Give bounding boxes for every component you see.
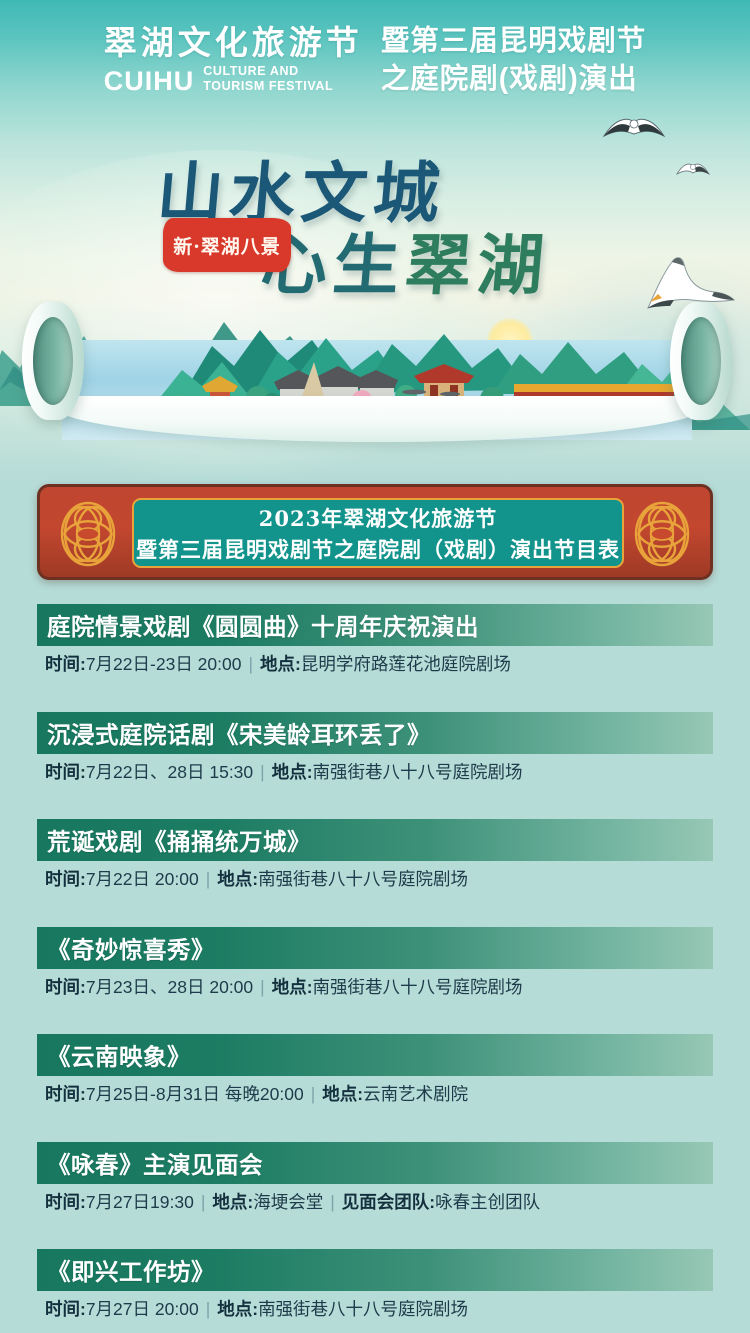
program-item[interactable]: 《云南映象》时间:7月25日-8月31日 每晚20:00|地点:云南艺术剧院: [0, 1034, 750, 1142]
program-detail: 时间:7月22日、28日 15:30|地点:南强街巷八十八号庭院剧场: [45, 760, 523, 785]
time-value: 7月22日、28日 15:30: [86, 762, 253, 782]
program-banner: 2023年翠湖文化旅游节 暨第三届昆明戏剧节之庭院剧（戏剧）演出节目表: [37, 484, 713, 580]
venue-label: 地点:: [272, 977, 313, 997]
venue-value: 南强街巷八十八号庭院剧场: [313, 977, 523, 997]
time-value: 7月22日-23日 20:00: [86, 654, 242, 674]
ornament-left-icon: [52, 499, 124, 569]
calligraphy-line-2: 心生翠湖: [258, 212, 554, 308]
venue-label: 地点:: [260, 654, 301, 674]
program-item[interactable]: 庭院情景戏剧《圆圆曲》十周年庆祝演出时间:7月22日-23日 20:00|地点:…: [0, 604, 750, 712]
program-title: 《奇妙惊喜秀》: [37, 931, 215, 965]
seal-text: 新·翠湖八景: [173, 232, 281, 259]
time-label: 时间:: [45, 1192, 86, 1212]
detail-separator: |: [194, 1192, 213, 1212]
program-title-bar: 荒诞戏剧《捅捅统万城》: [37, 819, 713, 861]
venue-value: 海埂会堂: [253, 1192, 323, 1212]
program-detail: 时间:7月23日、28日 20:00|地点:南强街巷八十八号庭院剧场: [45, 975, 523, 1000]
program-title-bar: 沉浸式庭院话剧《宋美龄耳环丢了》: [37, 712, 713, 754]
ornament-right-icon: [626, 499, 698, 569]
program-title: 《云南映象》: [37, 1038, 191, 1072]
program-title-bar: 《云南映象》: [37, 1034, 713, 1076]
team-value: 咏春主创团队: [435, 1192, 540, 1212]
detail-separator: |: [199, 869, 218, 889]
venue-label: 地点:: [217, 1299, 258, 1319]
program-title: 《即兴工作坊》: [37, 1253, 215, 1287]
festival-logo-en-line2: TOURISM FESTIVAL: [203, 79, 333, 94]
poster-root: 山水文城 心生翠湖 新·翠湖八景: [0, 0, 750, 1333]
program-detail: 时间:7月22日 20:00|地点:南强街巷八十八号庭院剧场: [45, 867, 468, 892]
scroll-roll-right-hole: [681, 317, 721, 405]
time-value: 7月25日-8月31日 每晚20:00: [86, 1084, 304, 1104]
detail-separator: |: [304, 1084, 323, 1104]
time-label: 时间:: [45, 869, 86, 889]
program-banner-line1: 2023年翠湖文化旅游节: [259, 503, 497, 533]
header-subtitle-line1: 暨第三届昆明戏剧节: [381, 22, 647, 60]
scroll-roll-right: [670, 302, 732, 420]
venue-value: 南强街巷八十八号庭院剧场: [258, 1299, 468, 1319]
time-label: 时间:: [45, 762, 86, 782]
program-item[interactable]: 沉浸式庭院话剧《宋美龄耳环丢了》时间:7月22日、28日 15:30|地点:南强…: [0, 712, 750, 820]
scroll-roll-left: [22, 302, 84, 420]
program-list: 庭院情景戏剧《圆圆曲》十周年庆祝演出时间:7月22日-23日 20:00|地点:…: [0, 604, 750, 1324]
festival-logo: 翠湖文化旅游节 CUIHU CULTURE AND TOURISM FESTIV…: [104, 25, 363, 94]
program-title: 庭院情景戏剧《圆圆曲》十周年庆祝演出: [37, 608, 479, 642]
time-label: 时间:: [45, 977, 86, 997]
detail-separator: |: [253, 762, 272, 782]
venue-label: 地点:: [212, 1192, 253, 1212]
venue-value: 南强街巷八十八号庭院剧场: [258, 869, 468, 889]
program-banner-inner: 2023年翠湖文化旅游节 暨第三届昆明戏剧节之庭院剧（戏剧）演出节目表: [132, 498, 624, 568]
program-item[interactable]: 《即兴工作坊》时间:7月27日 20:00|地点:南强街巷八十八号庭院剧场: [0, 1249, 750, 1324]
time-value: 7月23日、28日 20:00: [86, 977, 253, 997]
program-title-bar: 《奇妙惊喜秀》: [37, 927, 713, 969]
program-title: 《咏春》主演见面会: [37, 1146, 263, 1180]
time-label: 时间:: [45, 1084, 86, 1104]
program-title-bar: 《即兴工作坊》: [37, 1249, 713, 1291]
program-detail: 时间:7月25日-8月31日 每晚20:00|地点:云南艺术剧院: [45, 1082, 468, 1107]
program-detail: 时间:7月27日 20:00|地点:南强街巷八十八号庭院剧场: [45, 1297, 468, 1322]
team-label: 见面会团队:: [342, 1192, 435, 1212]
venue-value: 昆明学府路莲花池庭院剧场: [301, 654, 511, 674]
festival-logo-en-sub: CULTURE AND TOURISM FESTIVAL: [203, 64, 333, 95]
time-label: 时间:: [45, 654, 86, 674]
calligraphy-line-2b: 翠湖: [402, 226, 553, 304]
program-title: 荒诞戏剧《捅捅统万城》: [37, 823, 311, 857]
program-detail: 时间:7月27日19:30|地点:海埂会堂|见面会团队:咏春主创团队: [45, 1190, 540, 1215]
program-title: 沉浸式庭院话剧《宋美龄耳环丢了》: [37, 716, 431, 750]
detail-separator: |: [253, 977, 272, 997]
venue-label: 地点:: [322, 1084, 363, 1104]
detail-separator: |: [241, 654, 260, 674]
program-detail: 时间:7月22日-23日 20:00|地点:昆明学府路莲花池庭院剧场: [45, 652, 511, 677]
venue-value: 云南艺术剧院: [363, 1084, 468, 1104]
program-title-bar: 庭院情景戏剧《圆圆曲》十周年庆祝演出: [37, 604, 713, 646]
scroll-painting-icon: [0, 300, 750, 465]
venue-value: 南强街巷八十八号庭院剧场: [313, 762, 523, 782]
time-label: 时间:: [45, 1299, 86, 1319]
program-item[interactable]: 荒诞戏剧《捅捅统万城》时间:7月22日 20:00|地点:南强街巷八十八号庭院剧…: [0, 819, 750, 927]
program-banner-line2: 暨第三届昆明戏剧节之庭院剧（戏剧）演出节目表: [136, 534, 620, 564]
detail-separator: |: [323, 1192, 342, 1212]
festival-logo-en: CUIHU CULTURE AND TOURISM FESTIVAL: [104, 64, 363, 95]
festival-logo-en-line1: CULTURE AND: [203, 64, 333, 79]
calligraphy-title: 山水文城 心生翠湖: [0, 126, 750, 306]
detail-separator: |: [199, 1299, 218, 1319]
festival-logo-cn: 翠湖文化旅游节: [104, 25, 363, 62]
program-item[interactable]: 《奇妙惊喜秀》时间:7月23日、28日 20:00|地点:南强街巷八十八号庭院剧…: [0, 927, 750, 1035]
seal-stamp: 新·翠湖八景: [163, 218, 291, 272]
time-value: 7月27日19:30: [86, 1192, 194, 1212]
header-subtitle: 暨第三届昆明戏剧节 之庭院剧(戏剧)演出: [381, 22, 647, 98]
program-item[interactable]: 《咏春》主演见面会时间:7月27日19:30|地点:海埂会堂|见面会团队:咏春主…: [0, 1142, 750, 1250]
time-value: 7月22日 20:00: [86, 869, 199, 889]
venue-label: 地点:: [217, 869, 258, 889]
header-band: 翠湖文化旅游节 CUIHU CULTURE AND TOURISM FESTIV…: [0, 0, 750, 120]
scroll-roll-left-hole: [33, 317, 73, 405]
program-title-bar: 《咏春》主演见面会: [37, 1142, 713, 1184]
venue-label: 地点:: [272, 762, 313, 782]
header-subtitle-line2: 之庭院剧(戏剧)演出: [381, 60, 647, 98]
festival-logo-en-main: CUIHU: [104, 68, 195, 95]
time-value: 7月27日 20:00: [86, 1299, 199, 1319]
